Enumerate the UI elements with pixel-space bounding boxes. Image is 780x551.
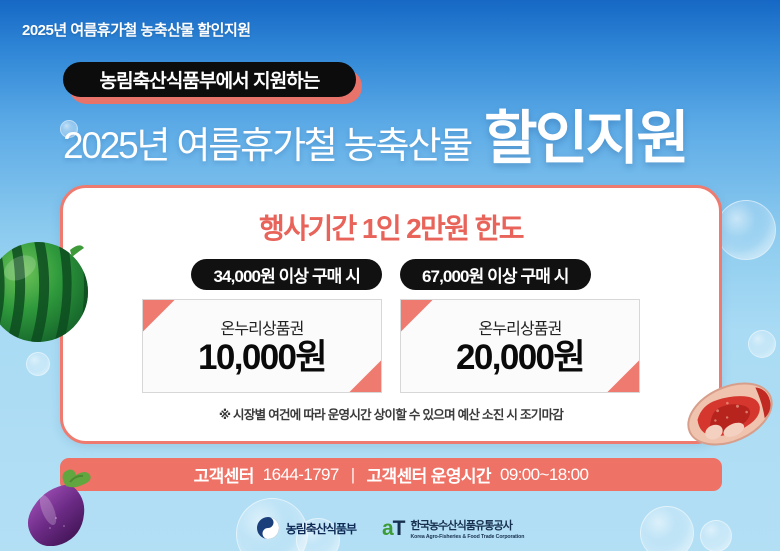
customer-center-label: 고객센터 xyxy=(194,462,254,487)
contact-separator: | xyxy=(348,465,358,485)
customer-center-content: 고객센터 1644-1797 | 고객센터 운영시간 09:00~18:00 xyxy=(194,462,589,487)
footer-logos: 농림축산식품부 aT 한국농수산식품유통공사 Korea Agro-Fisher… xyxy=(0,505,780,551)
ministry-logo-label: 농림축산식품부 xyxy=(286,520,356,537)
tier-condition-1: 34,000원 이상 구매 시 xyxy=(191,259,382,290)
taegeuk-icon xyxy=(256,516,280,540)
ministry-logo: 농림축산식품부 xyxy=(256,516,356,540)
ministry-badge-label: 농림축산식품부에서 지원하는 xyxy=(100,66,320,93)
voucher-list: 온누리상품권 10,000원 온누리상품권 20,000원 xyxy=(63,299,719,393)
promotional-banner: 2025년 여름휴가철 농축산물 할인지원 농림축산식품부에서 지원하는 202… xyxy=(0,0,780,551)
at-logo-mark: aT xyxy=(382,518,405,539)
promo-line: 행사기간 1인 2만원 한도 xyxy=(63,207,719,247)
headline-prefix: 2025년 여름휴가철 농축산물 xyxy=(63,127,471,164)
voucher-name-1: 온누리상품권 xyxy=(221,315,304,339)
bubble-decoration xyxy=(26,352,50,376)
at-logo-labels: 한국농수산식품유통공사 Korea Agro-Fisheries & Food … xyxy=(411,517,525,540)
disclaimer-note: ※ 시장별 여건에 따라 운영시간 상이할 수 있으며 예산 소진 시 조기마감 xyxy=(63,404,719,423)
tier-condition-2-text: 67,000원 이상 구매 시 xyxy=(422,262,569,287)
at-logo-name-ko: 한국농수산식품유통공사 xyxy=(411,517,525,533)
ministry-badge-pill: 농림축산식품부에서 지원하는 xyxy=(63,62,356,97)
voucher-name-2: 온누리상품권 xyxy=(479,315,562,339)
at-logo-name-en: Korea Agro-Fisheries & Food Trade Corpor… xyxy=(411,534,525,540)
offer-card: 행사기간 1인 2만원 한도 34,000원 이상 구매 시 67,000원 이… xyxy=(60,185,722,444)
at-logo-t: T xyxy=(393,518,405,539)
headline-emphasis: 할인지원 xyxy=(484,110,687,168)
customer-center-bar: 고객센터 1644-1797 | 고객센터 운영시간 09:00~18:00 xyxy=(60,458,722,491)
headline: 2025년 여름휴가철 농축산물 할인지원 xyxy=(63,110,780,168)
banner-header: 농림축산식품부에서 지원하는 2025년 여름휴가철 농축산물 할인지원 xyxy=(0,62,780,168)
customer-center-hours-value: 09:00~18:00 xyxy=(500,465,588,485)
voucher-amount-2: 20,000원 xyxy=(456,340,584,377)
customer-center-hours-label: 고객센터 운영시간 xyxy=(367,462,491,487)
tier-condition-2: 67,000원 이상 구매 시 xyxy=(400,259,591,290)
bubble-decoration xyxy=(716,200,776,260)
voucher-card: 온누리상품권 10,000원 xyxy=(142,299,382,393)
ministry-badge: 농림축산식품부에서 지원하는 xyxy=(63,62,356,99)
tier-condition-labels: 34,000원 이상 구매 시 67,000원 이상 구매 시 xyxy=(63,259,719,290)
voucher-amount-1: 10,000원 xyxy=(198,340,326,377)
tier-condition-1-text: 34,000원 이상 구매 시 xyxy=(213,262,360,287)
at-logo-a: a xyxy=(382,518,393,539)
top-strip: 2025년 여름휴가철 농축산물 할인지원 xyxy=(0,0,780,58)
at-logo: aT 한국농수산식품유통공사 Korea Agro-Fisheries & Fo… xyxy=(382,517,524,540)
customer-center-phone[interactable]: 1644-1797 xyxy=(263,465,339,485)
top-strip-title: 2025년 여름휴가철 농축산물 할인지원 xyxy=(22,19,251,40)
bubble-decoration xyxy=(748,330,776,358)
voucher-card: 온누리상품권 20,000원 xyxy=(400,299,640,393)
